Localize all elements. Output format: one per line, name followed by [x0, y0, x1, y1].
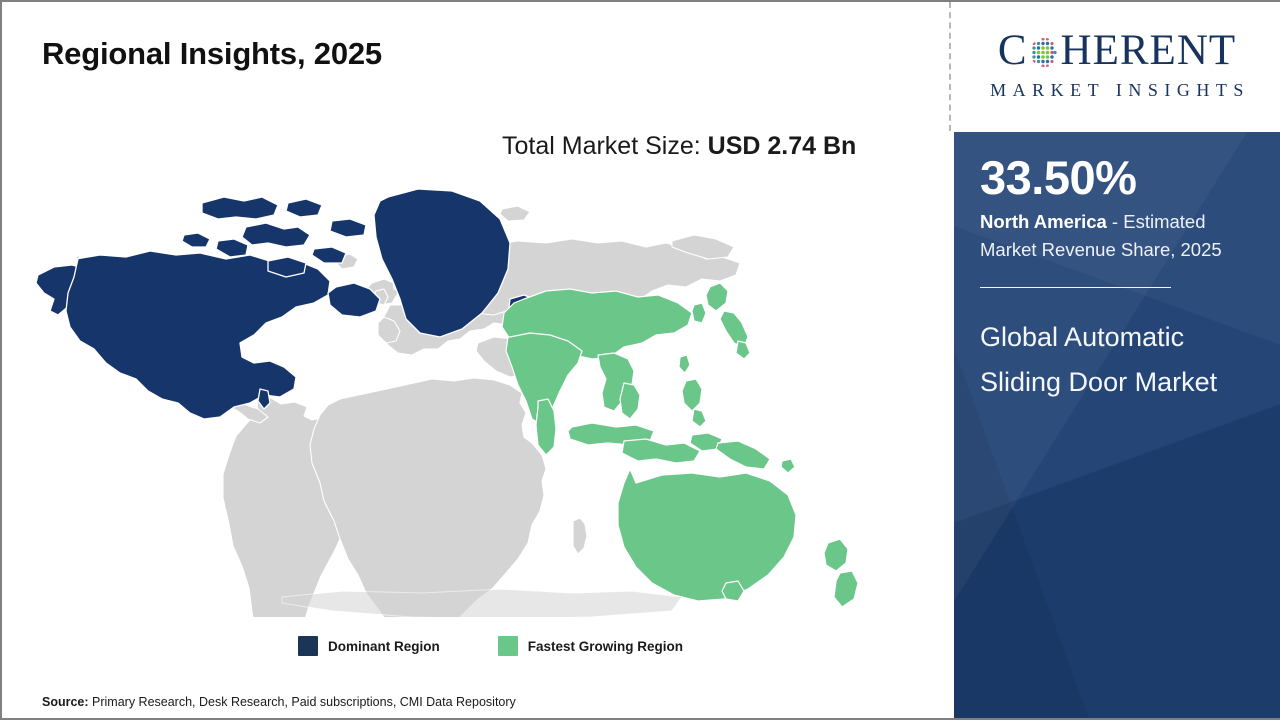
globe-dots-icon: [1029, 37, 1060, 68]
logo-wordmark: C: [967, 26, 1267, 74]
panel-region-name: North America: [980, 211, 1107, 232]
world-map-svg: [32, 187, 922, 617]
logo-word-herent: HERENT: [1061, 29, 1237, 72]
vertical-dashed-divider: [949, 2, 951, 131]
legend-label-dominant: Dominant Region: [328, 639, 440, 654]
panel-market-name: Global Automatic Sliding Door Market: [980, 315, 1230, 406]
market-size-value: USD 2.74 Bn: [708, 132, 857, 160]
map-legend: Dominant Region Fastest Growing Region: [298, 636, 683, 656]
legend-item-dominant-region: Dominant Region: [298, 636, 440, 656]
legend-swatch-dominant: [298, 636, 318, 656]
market-size-label: Total Market Size:: [502, 132, 708, 160]
page-title: Regional Insights, 2025: [42, 36, 382, 72]
legend-swatch-fastest: [498, 636, 518, 656]
panel-content: 33.50% North America - Estimated Market …: [954, 153, 1280, 405]
regional-stat-panel: 33.50% North America - Estimated Market …: [954, 132, 1280, 720]
logo-letter-c: C: [998, 29, 1028, 72]
logo-subtitle: MARKET INSIGHTS: [967, 80, 1267, 101]
legend-item-fastest-growing-region: Fastest Growing Region: [498, 636, 683, 656]
map-fastest-growing-regions: [502, 283, 858, 607]
coherent-market-insights-logo: C: [967, 26, 1267, 101]
legend-label-fastest: Fastest Growing Region: [528, 639, 683, 654]
panel-stat-value: 33.50%: [980, 153, 1256, 202]
source-label: Source:: [42, 695, 89, 709]
panel-divider-rule: [980, 287, 1171, 288]
infographic-root: Regional Insights, 2025 Total Market Siz…: [0, 0, 1280, 720]
total-market-size: Total Market Size: USD 2.74 Bn: [502, 129, 892, 165]
panel-stat-description: North America - Estimated Market Revenue…: [980, 208, 1252, 264]
source-note: Source: Primary Research, Desk Research,…: [42, 695, 516, 709]
source-text: Primary Research, Desk Research, Paid su…: [89, 695, 516, 709]
world-map: [32, 187, 922, 617]
